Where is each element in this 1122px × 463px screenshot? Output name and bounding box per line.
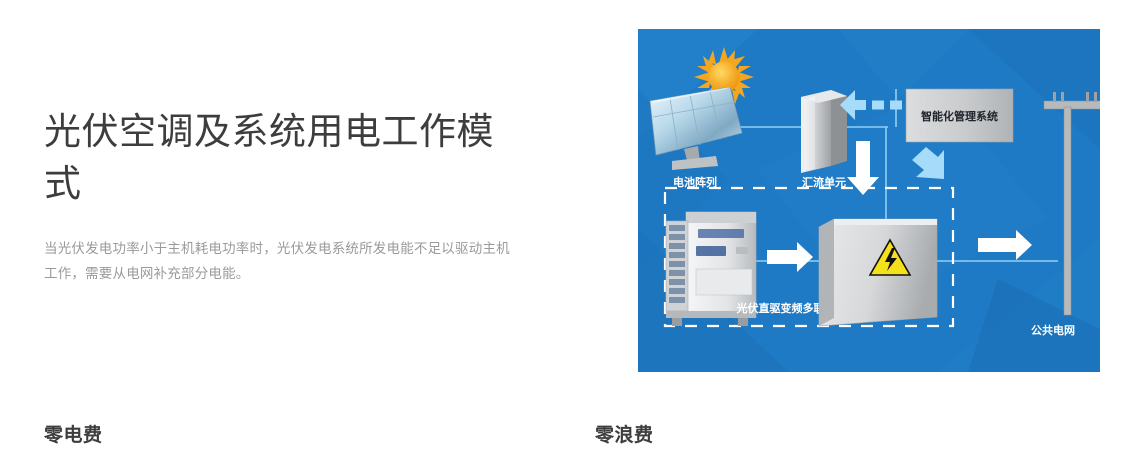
feature-heading-zero-waste: 零浪费 [595,420,654,447]
management-system-label: 智能化管理系统 [921,109,998,123]
system-diagram-image: 电池阵列 汇流单元 智能化管理系统 [638,29,1100,372]
electrical-control-box-icon [819,219,937,326]
management-system-box: 智能化管理系统 [906,89,1013,142]
combiner-unit-label: 汇流单元 [802,175,846,189]
feature-heading-zero-electricity-fee: 零电费 [44,420,103,447]
article-text-column: 光伏空调及系统用电工作模式 当光伏发电功率小于主机耗电功率时，光伏发电系统所发电… [44,106,514,286]
battery-array-label: 电池阵列 [673,175,717,189]
page-title: 光伏空调及系统用电工作模式 [44,106,514,210]
page-description: 当光伏发电功率小于主机耗电功率时，光伏发电系统所发电能不足以驱动主机工作，需要从… [44,236,514,286]
public-grid-label: 公共电网 [1031,323,1075,337]
